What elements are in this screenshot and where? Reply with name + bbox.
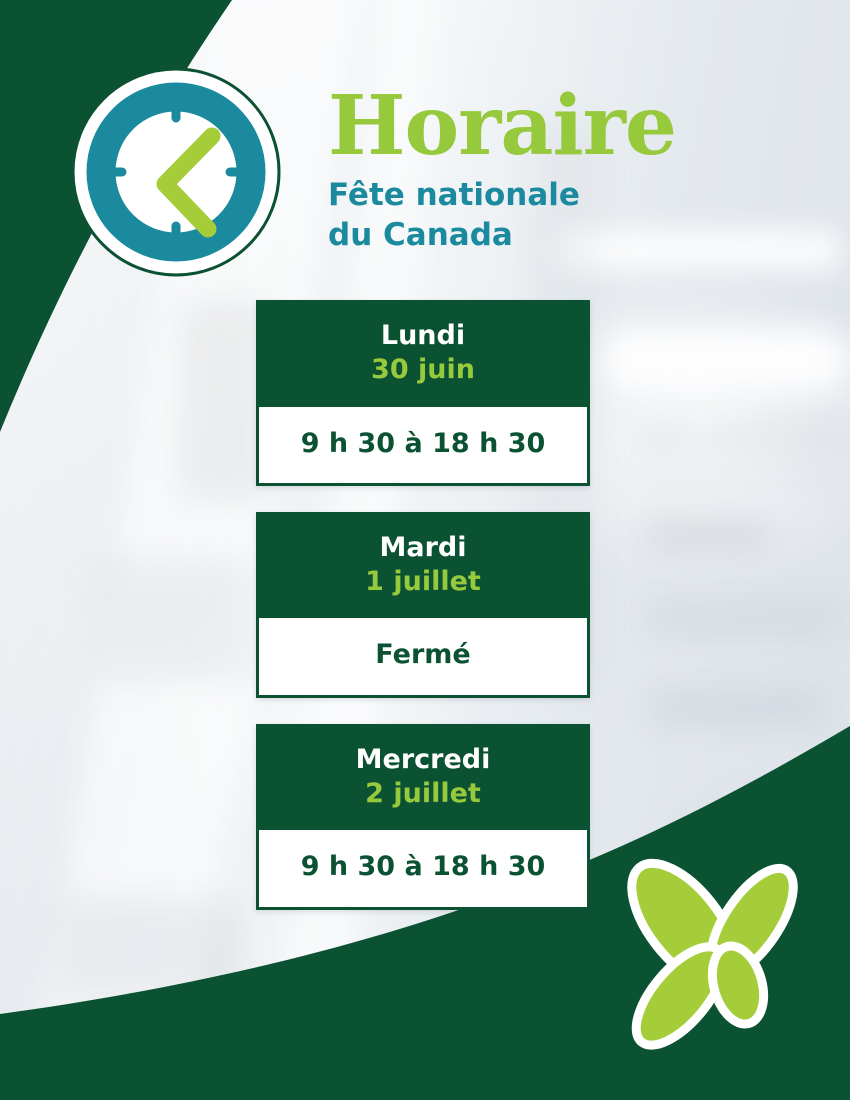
clock-icon — [70, 66, 282, 278]
schedule-poster: Horaire Fête nationale du Canada Lundi 3… — [0, 0, 850, 1100]
page-title: Horaire — [328, 86, 748, 166]
page-subtitle: Fête nationale du Canada — [328, 176, 598, 255]
schedule-card-header: Mercredi 2 juillet — [259, 727, 587, 831]
schedule-hours-label: Fermé — [267, 639, 579, 671]
schedule-card-list: Lundi 30 juin 9 h 30 à 18 h 30 Mardi 1 j… — [256, 300, 590, 910]
schedule-hours-label: 9 h 30 à 18 h 30 — [267, 428, 579, 460]
schedule-day-label: Lundi — [269, 319, 577, 353]
schedule-card-header: Mardi 1 juillet — [259, 515, 587, 619]
schedule-card-body: 9 h 30 à 18 h 30 — [259, 830, 587, 906]
schedule-card: Mercredi 2 juillet 9 h 30 à 18 h 30 — [256, 724, 590, 910]
schedule-date-label: 30 juin — [269, 353, 577, 387]
butterfly-flower-logo-icon — [612, 852, 822, 1057]
subtitle-line-2: du Canada — [328, 217, 513, 253]
poster-header: Horaire Fête nationale du Canada — [328, 86, 748, 256]
schedule-day-label: Mercredi — [269, 743, 577, 777]
schedule-day-label: Mardi — [269, 531, 577, 565]
schedule-card-body: 9 h 30 à 18 h 30 — [259, 407, 587, 483]
schedule-card: Lundi 30 juin 9 h 30 à 18 h 30 — [256, 300, 590, 486]
schedule-card-header: Lundi 30 juin — [259, 303, 587, 407]
logo-petals — [612, 852, 809, 1057]
schedule-date-label: 1 juillet — [269, 565, 577, 599]
subtitle-line-1: Fête nationale — [328, 177, 580, 213]
schedule-hours-label: 9 h 30 à 18 h 30 — [267, 851, 579, 883]
schedule-card: Mardi 1 juillet Fermé — [256, 512, 590, 698]
schedule-card-body: Fermé — [259, 618, 587, 694]
schedule-date-label: 2 juillet — [269, 777, 577, 811]
